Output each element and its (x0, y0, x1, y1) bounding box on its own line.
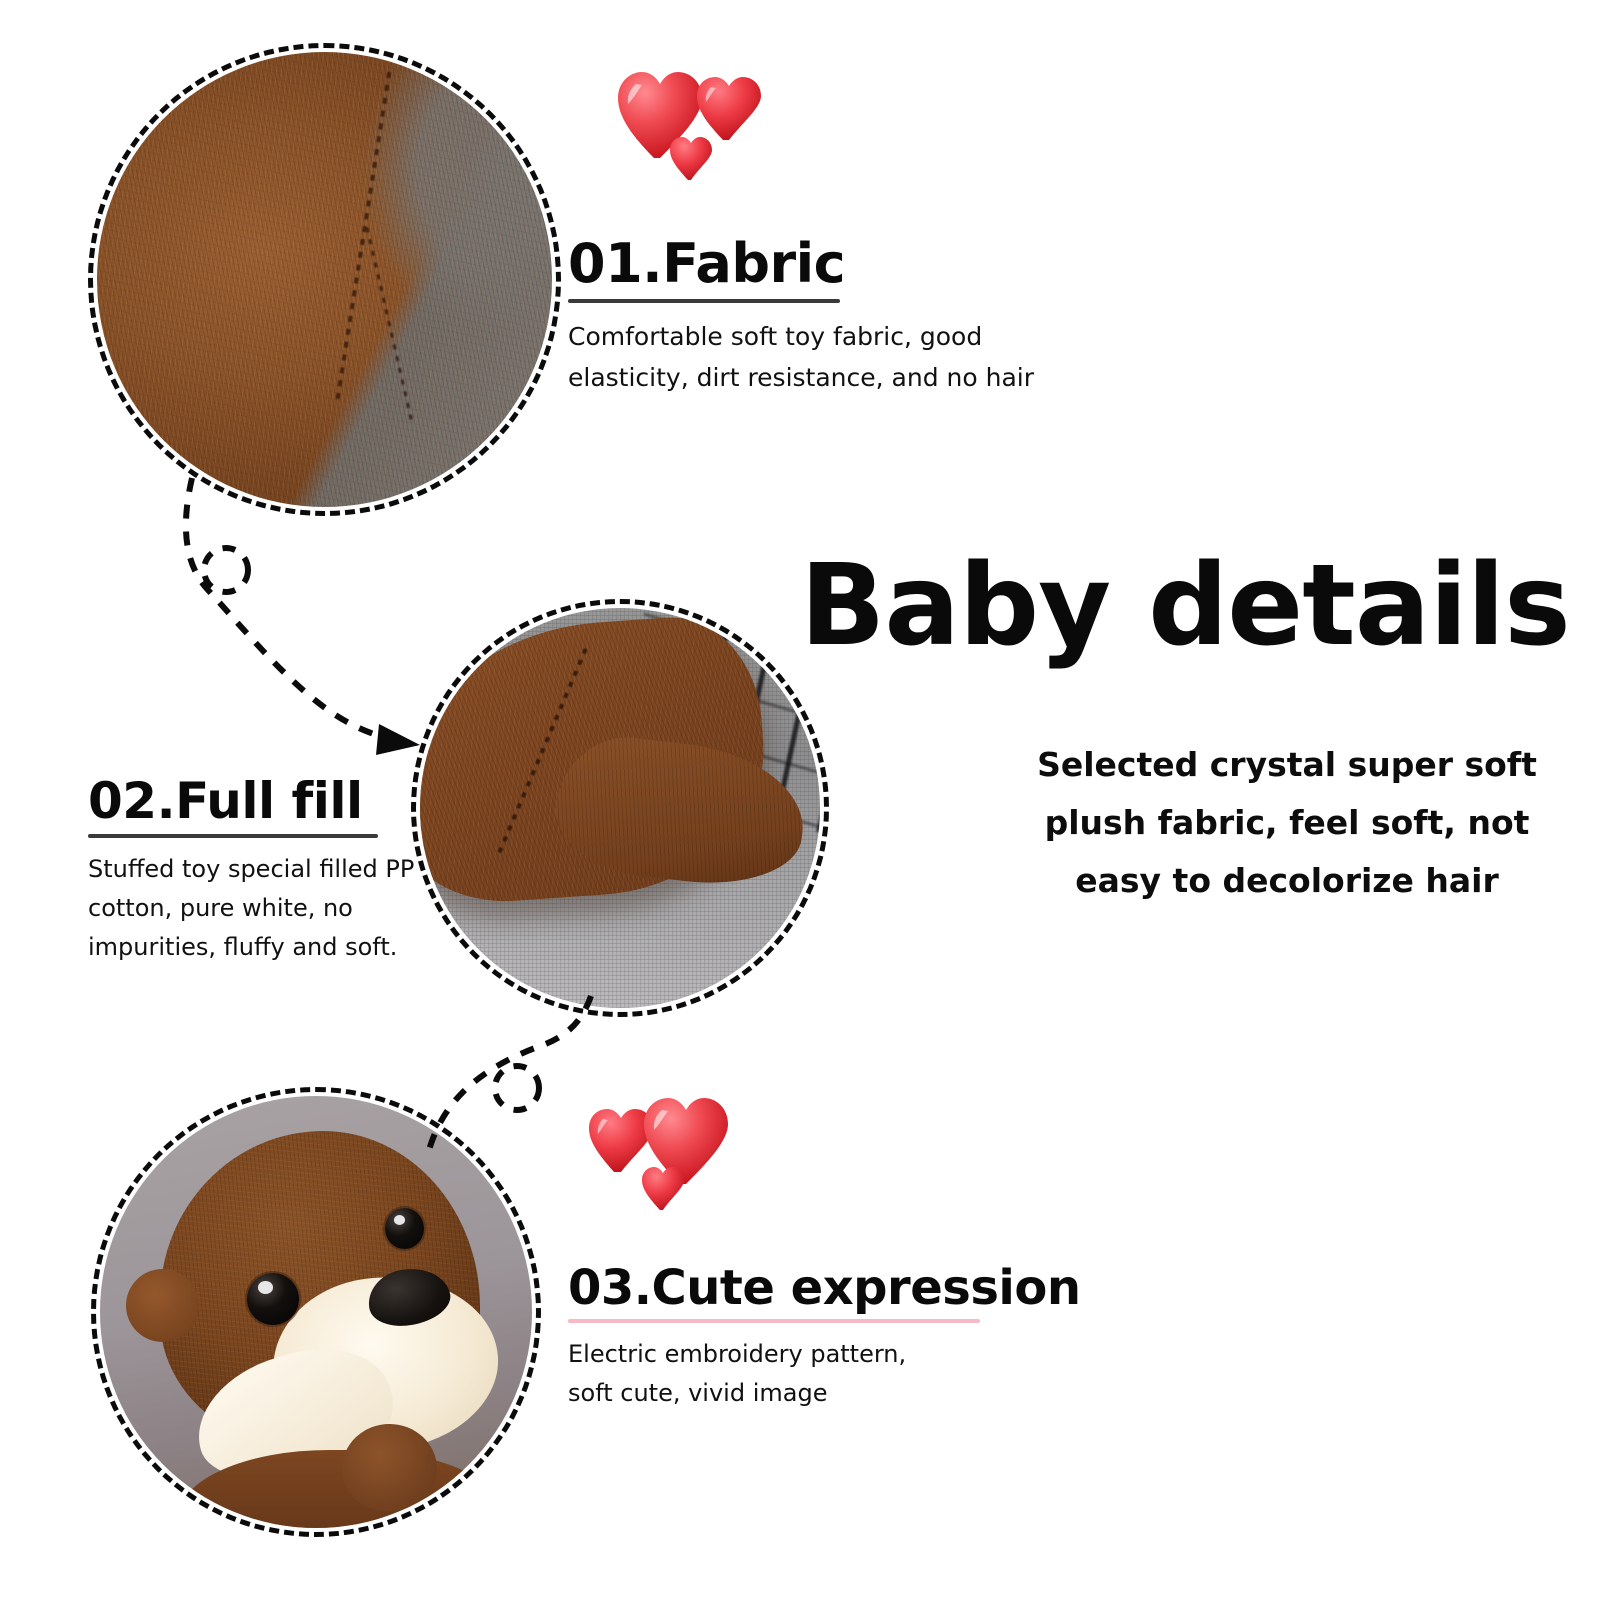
headline-line: plush fabric, feel soft, not (1020, 794, 1554, 852)
section-fabric: 01.Fabric Comfortable soft toy fabric, g… (568, 234, 1038, 398)
connector-loop (204, 548, 248, 592)
hearts-top (612, 58, 762, 183)
body-line: Comfortable soft toy fabric, good (568, 317, 1038, 358)
headline-paragraph: Selected crystal super soft plush fabric… (1020, 736, 1554, 909)
section-title: Full fill (175, 772, 363, 830)
body-line: Stuffed toy special filled PP (88, 850, 508, 889)
heart-small (642, 1167, 684, 1210)
section-cute-expression: 03.Cute expression Electric embroidery p… (568, 1262, 1038, 1413)
section-rule (568, 1319, 980, 1323)
page-title: Baby details (800, 548, 1570, 666)
body-line: cotton, pure white, no (88, 889, 508, 928)
connector-loop (495, 1066, 539, 1110)
headline-line: Selected crystal super soft (1020, 736, 1554, 794)
body-line: impurities, fluffy and soft. (88, 928, 508, 967)
section-body: Comfortable soft toy fabric, good elasti… (568, 317, 1038, 398)
headline-line: easy to decolorize hair (1020, 852, 1554, 910)
body-line: Electric embroidery pattern, (568, 1335, 1038, 1374)
section-heading: 03.Cute expression (568, 1262, 1038, 1315)
photo-circle-fabric (97, 52, 552, 507)
heart-medium (589, 1109, 653, 1172)
connector-path (186, 478, 386, 738)
heart-medium (697, 77, 761, 140)
connector-1-to-2 (140, 470, 470, 770)
section-heading: 02.Full fill (88, 774, 508, 829)
connector-path (427, 996, 591, 1158)
infographic-canvas: 01.Fabric Comfortable soft toy fabric, g… (0, 0, 1600, 1600)
section-rule (568, 299, 840, 303)
hearts-bottom (572, 1078, 737, 1213)
heart-small (670, 137, 712, 180)
section-rule (88, 834, 378, 838)
section-full-fill: 02.Full fill Stuffed toy special filled … (88, 774, 508, 967)
body-line: soft cute, vivid image (568, 1374, 1038, 1413)
section-number: 01. (568, 232, 662, 295)
section-heading: 01.Fabric (568, 234, 1038, 293)
section-title: Cute expression (652, 1260, 1081, 1316)
body-line: elasticity, dirt resistance, and no hair (568, 358, 1038, 399)
section-number: 03. (568, 1260, 652, 1316)
section-title: Fabric (662, 232, 845, 295)
section-number: 02. (88, 772, 175, 830)
dashed-circle-border (88, 43, 561, 516)
section-body: Stuffed toy special filled PP cotton, pu… (88, 850, 508, 967)
section-body: Electric embroidery pattern, soft cute, … (568, 1335, 1038, 1413)
connector-arrowhead (376, 724, 420, 755)
